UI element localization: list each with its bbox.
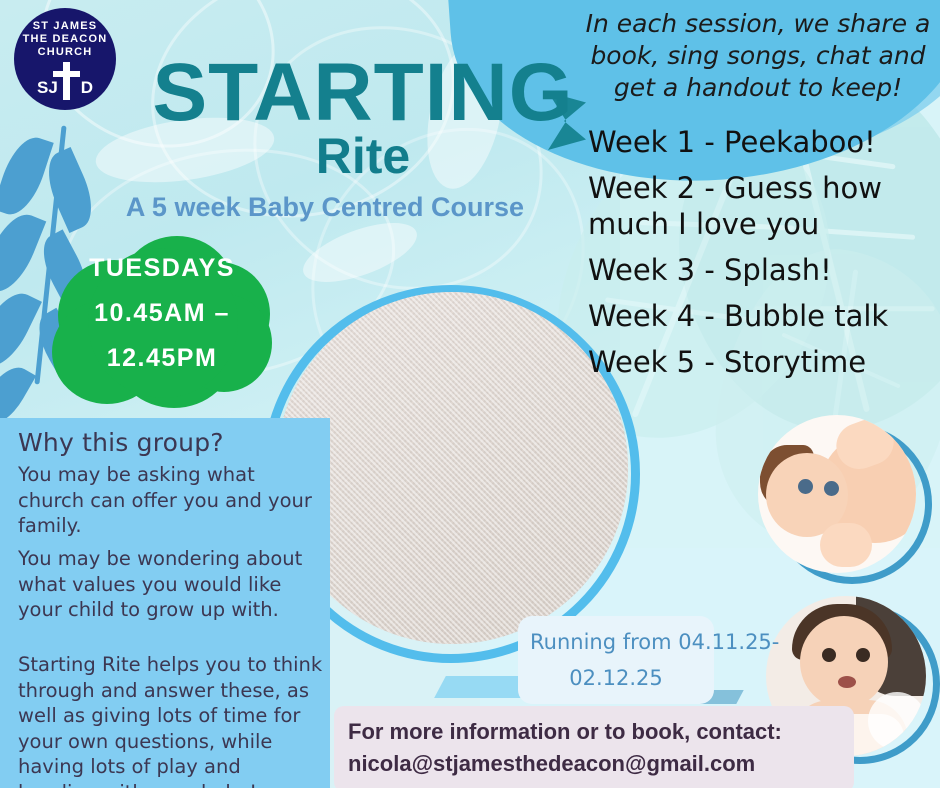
poster-canvas: ST JAMES THE DEACON CHURCH SJ D STARTING… <box>0 0 940 788</box>
running-dates-line-1: Running from 04.11.25- <box>530 624 702 660</box>
contact-prompt: For more information or to book, contact… <box>348 716 840 748</box>
running-dates-line-2: 02.12.25 <box>530 660 702 696</box>
schedule-day: TUESDAYS <box>48 246 276 291</box>
contact-email[interactable]: nicola@stjamesthedeacon@gmail.com <box>348 748 840 780</box>
church-logo: ST JAMES THE DEACON CHURCH SJ D <box>14 8 116 110</box>
side-photo-top <box>758 415 916 573</box>
schedule-time-end: 12.45PM <box>48 336 276 381</box>
running-dates-badge: Running from 04.11.25- 02.12.25 <box>518 616 714 704</box>
list-item: Week 5 - Storytime <box>588 344 940 380</box>
list-item: Week 3 - Splash! <box>588 252 940 288</box>
cross-icon: SJ D <box>37 62 93 100</box>
list-item: Week 2 - Guess how much I love you <box>588 170 940 242</box>
logo-line-1: ST JAMES <box>33 20 98 33</box>
why-paragraph-2: You may be wondering about what values y… <box>18 546 323 623</box>
why-this-group-panel: Why this group? You may be asking what c… <box>0 418 330 788</box>
why-paragraph-1: You may be asking what church can offer … <box>18 462 323 539</box>
sessions-intro: In each session, we share a book, sing s… <box>578 8 938 104</box>
course-tagline: A 5 week Baby Centred Course <box>60 192 590 222</box>
schedule-time-start: 10.45AM – <box>48 291 276 336</box>
why-heading: Why this group? <box>18 428 318 457</box>
list-item: Week 1 - Peekaboo! <box>588 124 940 160</box>
weeks-list: Week 1 - Peekaboo! Week 2 - Guess how mu… <box>588 124 940 390</box>
logo-monogram-right: D <box>81 78 93 98</box>
why-paragraph-3: Starting Rite helps you to think through… <box>18 652 323 788</box>
schedule-badge: TUESDAYS 10.45AM – 12.45PM <box>48 246 276 381</box>
contact-banner: For more information or to book, contact… <box>334 706 854 788</box>
list-item: Week 4 - Bubble talk <box>588 298 940 334</box>
logo-line-3: CHURCH <box>38 46 93 59</box>
logo-monogram-left: SJ <box>37 78 58 98</box>
logo-line-2: THE DEACON <box>23 33 108 46</box>
page-title: STARTING <box>128 52 598 134</box>
page-subtitle: Rite <box>128 130 598 182</box>
